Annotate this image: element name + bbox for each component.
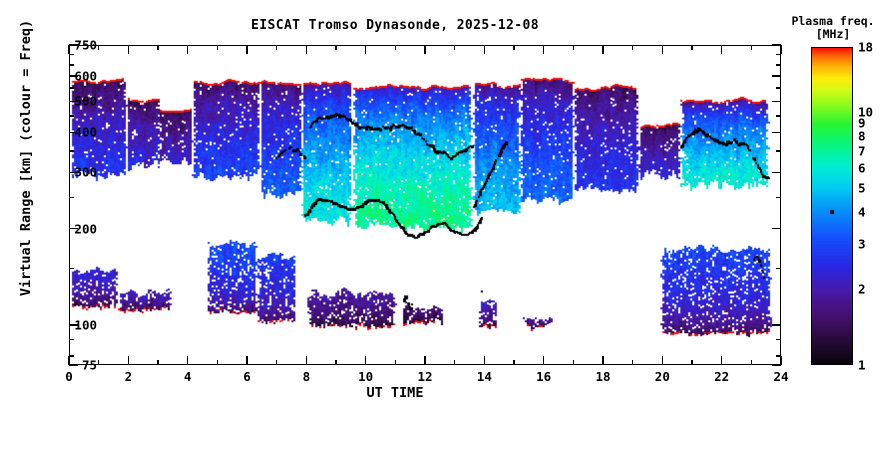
y-tick bbox=[69, 54, 74, 56]
x-tick bbox=[187, 45, 189, 54]
x-tick-label: 4 bbox=[184, 369, 192, 384]
x-tick bbox=[721, 356, 723, 365]
colorbar-tick-label: 3 bbox=[858, 237, 866, 252]
y-tick bbox=[69, 150, 74, 152]
y-tick bbox=[69, 115, 74, 117]
x-tick bbox=[68, 356, 70, 365]
y-tick bbox=[776, 150, 781, 152]
x-tick bbox=[68, 45, 70, 54]
x-tick bbox=[780, 45, 782, 54]
x-tick bbox=[335, 360, 337, 365]
y-tick bbox=[776, 115, 781, 117]
plot-area bbox=[69, 45, 781, 365]
colorbar-title-line1: Plasma freq. bbox=[786, 14, 880, 28]
x-tick bbox=[128, 356, 130, 365]
colorbar-canvas bbox=[812, 48, 852, 364]
y-tick-label: 300 bbox=[74, 165, 97, 180]
x-tick bbox=[246, 45, 248, 54]
y-tick bbox=[776, 268, 781, 270]
x-tick bbox=[632, 45, 634, 50]
y-tick bbox=[772, 172, 781, 174]
x-tick bbox=[573, 360, 575, 365]
x-tick bbox=[662, 356, 664, 365]
y-tick bbox=[69, 268, 74, 270]
x-tick bbox=[484, 45, 486, 54]
ionogram-figure: EISCAT Tromso Dynasonde, 2025-12-08 Virt… bbox=[0, 0, 880, 420]
x-tick bbox=[157, 360, 159, 365]
x-tick bbox=[365, 356, 367, 365]
colorbar-tick-label: 18 bbox=[858, 40, 873, 55]
y-tick bbox=[776, 197, 781, 199]
x-tick-label: 10 bbox=[358, 369, 373, 384]
y-tick-label: 200 bbox=[74, 221, 97, 236]
colorbar-tick-label: 4 bbox=[858, 205, 866, 220]
y-tick-label: 400 bbox=[74, 125, 97, 140]
x-tick bbox=[276, 360, 278, 365]
x-tick bbox=[691, 45, 693, 50]
y-tick bbox=[69, 87, 74, 89]
colorbar-tick-label: 5 bbox=[858, 180, 866, 195]
x-tick bbox=[602, 45, 604, 54]
x-tick bbox=[662, 45, 664, 54]
y-tick bbox=[772, 228, 781, 230]
x-tick bbox=[513, 45, 515, 50]
x-tick bbox=[306, 356, 308, 365]
y-tick bbox=[772, 101, 781, 103]
x-tick bbox=[217, 45, 219, 50]
x-tick bbox=[632, 360, 634, 365]
x-tick bbox=[157, 45, 159, 50]
y-tick bbox=[776, 87, 781, 89]
x-tick bbox=[246, 356, 248, 365]
x-tick bbox=[395, 360, 397, 365]
x-tick-label: 12 bbox=[417, 369, 432, 384]
x-tick bbox=[98, 360, 100, 365]
x-tick bbox=[513, 360, 515, 365]
x-tick-label: 24 bbox=[773, 369, 788, 384]
colorbar-tick-label: 1 bbox=[858, 358, 866, 373]
x-tick bbox=[306, 45, 308, 54]
x-tick-label: 16 bbox=[536, 369, 551, 384]
x-tick bbox=[543, 356, 545, 365]
x-tick bbox=[365, 45, 367, 54]
y-tick bbox=[772, 75, 781, 77]
x-tick bbox=[543, 45, 545, 54]
y-tick bbox=[772, 324, 781, 326]
y-tick bbox=[776, 64, 781, 66]
colorbar-tick-label: 6 bbox=[858, 160, 866, 175]
y-tick bbox=[69, 339, 74, 341]
x-tick bbox=[454, 360, 456, 365]
x-tick bbox=[751, 360, 753, 365]
x-tick bbox=[602, 356, 604, 365]
x-tick-label: 22 bbox=[714, 369, 729, 384]
x-tick bbox=[276, 45, 278, 50]
x-tick bbox=[573, 45, 575, 50]
y-tick bbox=[69, 197, 74, 199]
y-tick bbox=[776, 339, 781, 341]
x-tick bbox=[691, 360, 693, 365]
x-tick bbox=[187, 356, 189, 365]
page-title: EISCAT Tromso Dynasonde, 2025-12-08 bbox=[0, 18, 790, 33]
x-tick bbox=[217, 360, 219, 365]
x-tick-label: 14 bbox=[477, 369, 492, 384]
x-tick bbox=[335, 45, 337, 50]
x-tick bbox=[395, 45, 397, 50]
x-tick bbox=[98, 45, 100, 50]
y-tick-label: 100 bbox=[74, 318, 97, 333]
y-tick bbox=[69, 64, 74, 66]
x-tick bbox=[424, 45, 426, 54]
y-tick-label: 75 bbox=[82, 358, 97, 373]
x-tick bbox=[424, 356, 426, 365]
x-tick bbox=[721, 45, 723, 54]
x-tick-label: 0 bbox=[65, 369, 73, 384]
x-tick-label: 20 bbox=[655, 369, 670, 384]
y-tick bbox=[772, 132, 781, 134]
y-tick-label: 600 bbox=[74, 69, 97, 84]
x-axis-label: UT TIME bbox=[0, 385, 790, 401]
x-tick-label: 18 bbox=[595, 369, 610, 384]
y-tick bbox=[69, 364, 78, 366]
colorbar-panel: Plasma freq. [MHz] 1810987654321 bbox=[786, 14, 880, 384]
y-tick-label: 750 bbox=[74, 38, 97, 53]
x-tick-label: 6 bbox=[243, 369, 251, 384]
x-tick bbox=[484, 356, 486, 365]
x-tick-label: 8 bbox=[303, 369, 311, 384]
x-tick bbox=[780, 356, 782, 365]
colorbar-gradient bbox=[811, 47, 853, 365]
x-tick bbox=[454, 45, 456, 50]
x-tick bbox=[128, 45, 130, 54]
ionogram-heatmap bbox=[70, 46, 780, 364]
y-tick-label: 500 bbox=[74, 94, 97, 109]
x-tick-label: 2 bbox=[125, 369, 133, 384]
y-tick bbox=[776, 54, 781, 56]
colorbar-tick-label: 2 bbox=[858, 281, 866, 296]
x-tick bbox=[751, 45, 753, 50]
colorbar-tick-label: 8 bbox=[858, 129, 866, 144]
colorbar-tick-label: 7 bbox=[858, 143, 866, 158]
